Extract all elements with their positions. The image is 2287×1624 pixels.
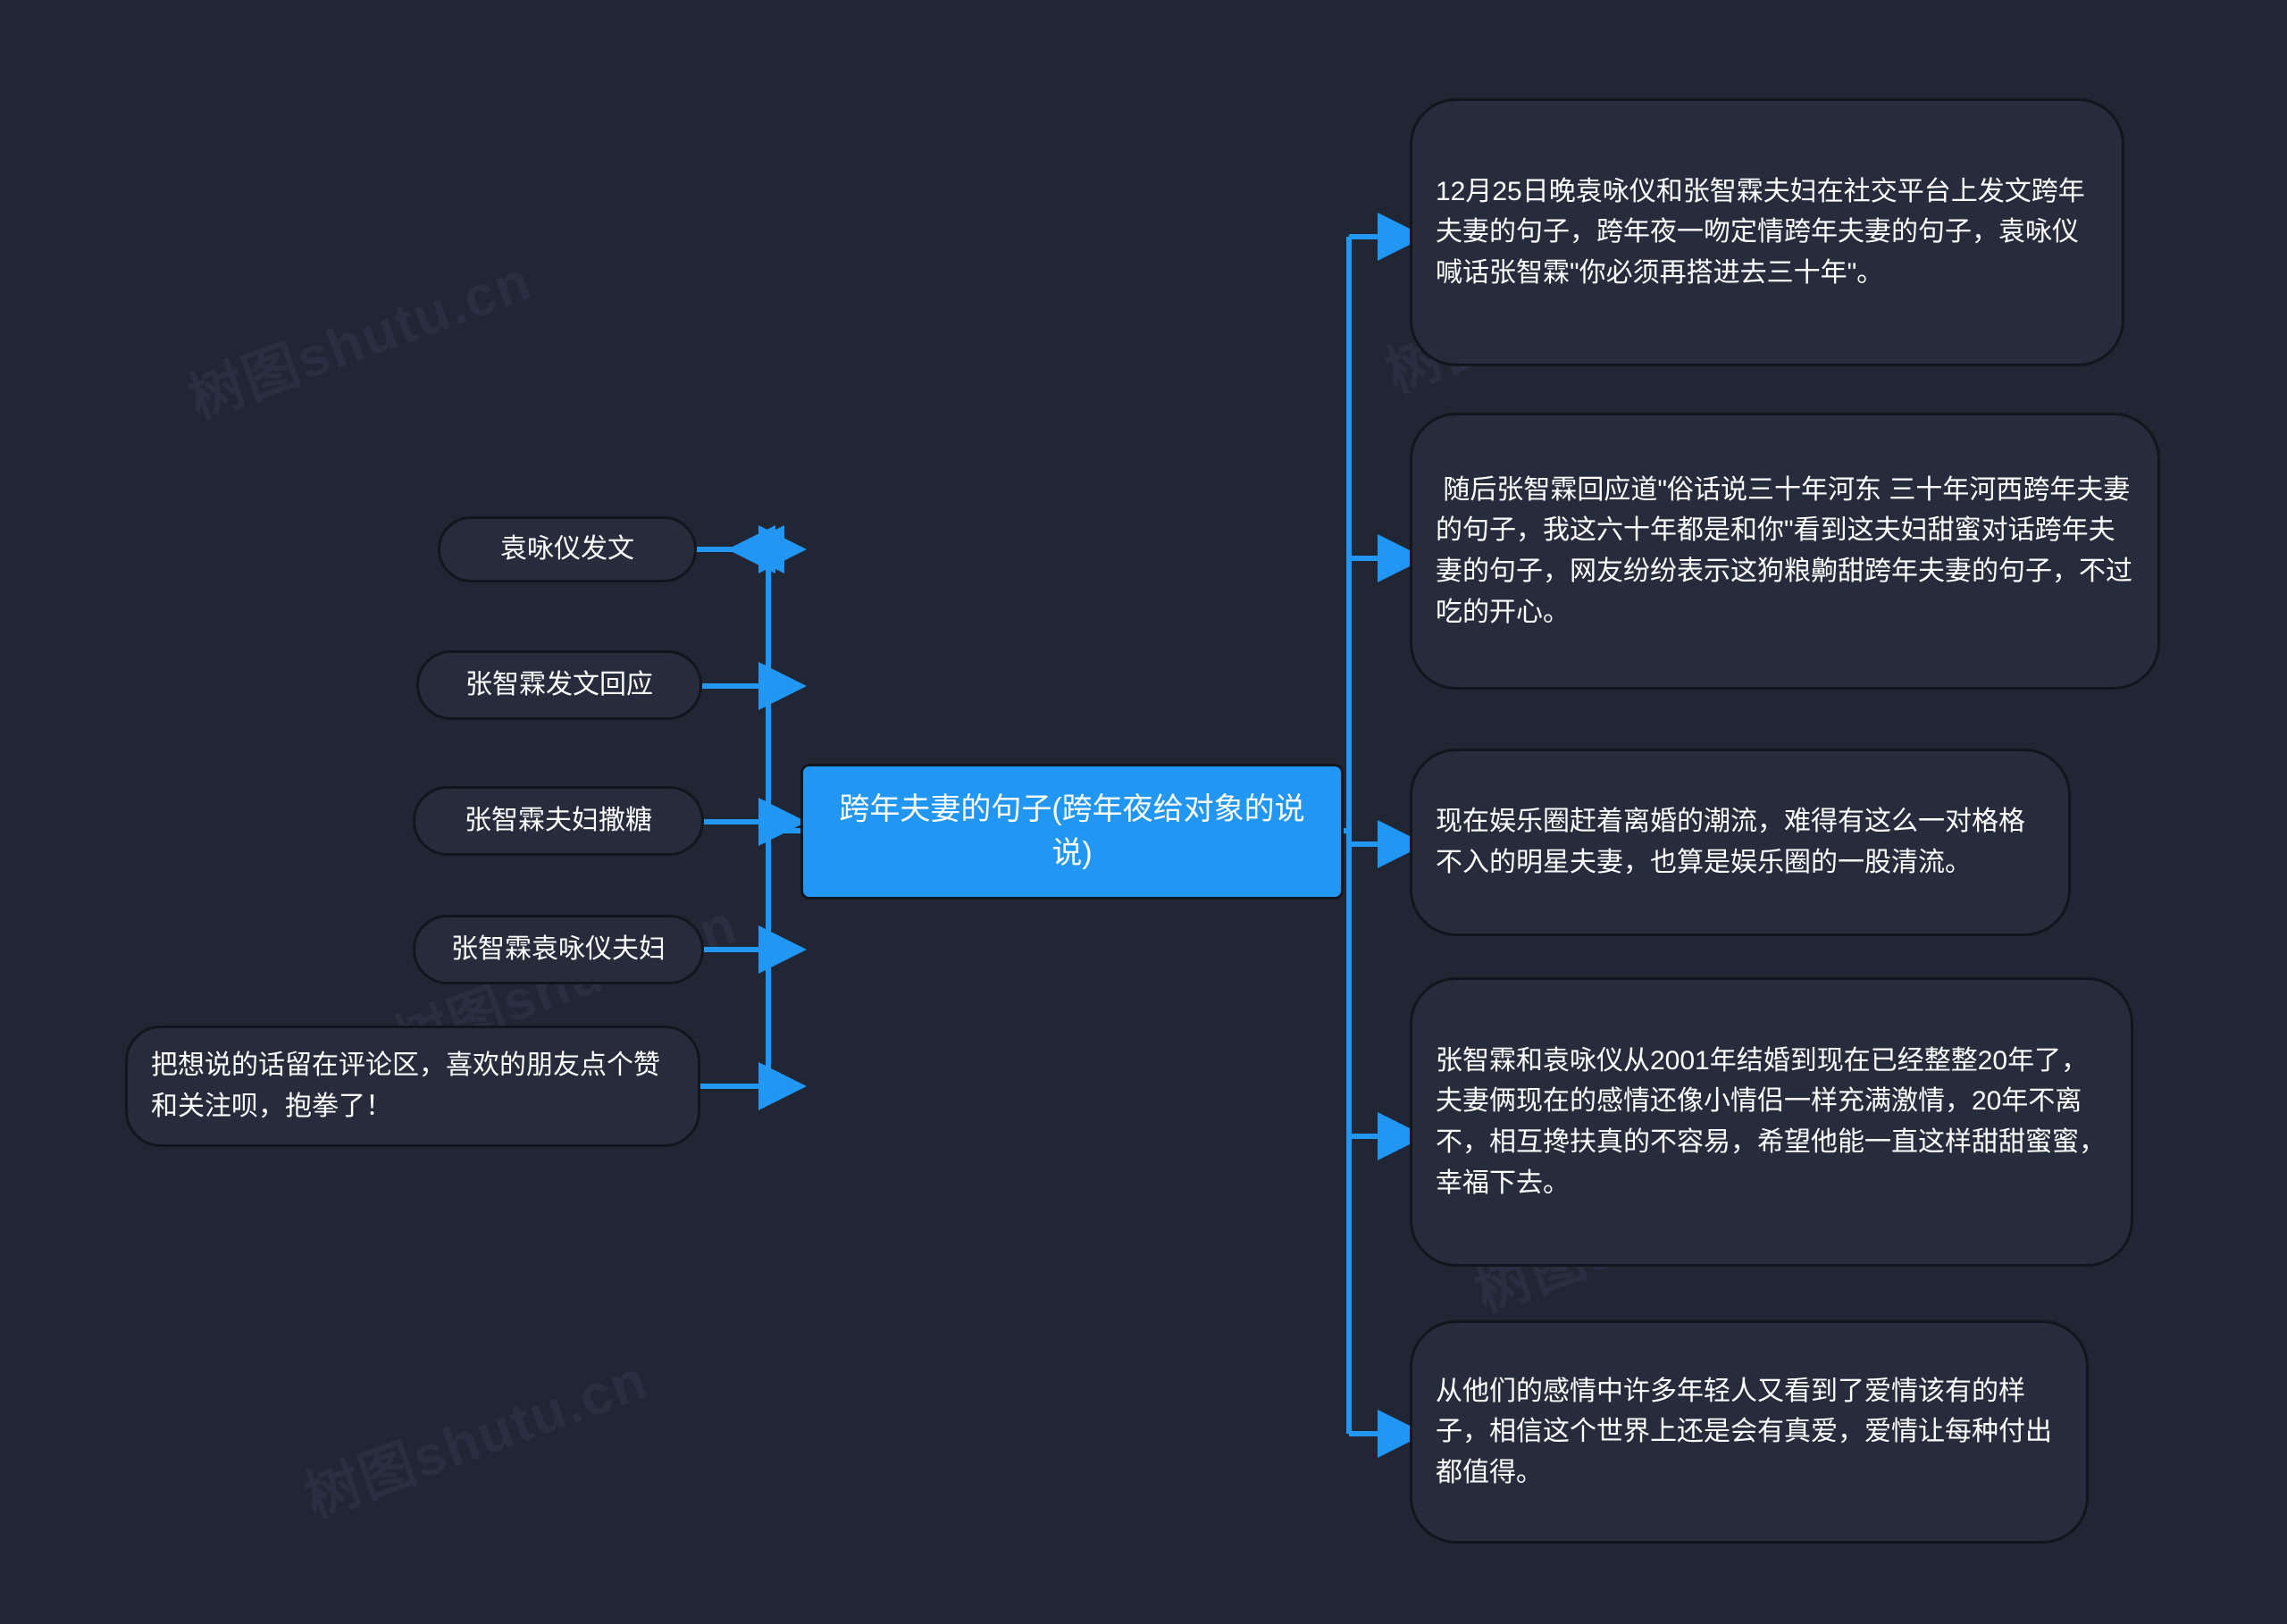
right-node-4-label: 张智霖和袁咏仪从2001年结婚到现在已经整整20年了，夫妻俩现在的感情还像小情侣… [1436, 1041, 2107, 1203]
right-node-5[interactable]: 从他们的感情中许多年轻人又看到了爱情该有的样子，相信这个世界上还是会有真爱，爱情… [1410, 1320, 2089, 1544]
right-node-3-label: 现在娱乐圈赶着离婚的潮流，难得有这么一对格格不入的明星夫妻，也算是娱乐圈的一股清… [1436, 801, 2045, 883]
left-node-4[interactable]: 张智霖袁咏仪夫妇 [413, 915, 704, 984]
right-node-2-label: 随后张智霖回应道"俗话说三十年河东 三十年河西跨年夫妻的句子，我这六十年都是和你… [1436, 470, 2134, 632]
left-node-2[interactable]: 张智霖发文回应 [416, 650, 702, 720]
left-node-4-label: 张智霖袁咏仪夫妇 [439, 929, 678, 970]
root-node[interactable]: 跨年夫妻的句子(跨年夜给对象的说说) [800, 764, 1344, 900]
root-node-label: 跨年夫妻的句子(跨年夜给对象的说说) [821, 788, 1323, 876]
right-node-4[interactable]: 张智霖和袁咏仪从2001年结婚到现在已经整整20年了，夫妻俩现在的感情还像小情侣… [1410, 977, 2133, 1267]
right-node-1-label: 12月25日晚袁咏仪和张智霖夫妇在社交平台上发文跨年夫妻的句子，跨年夜一吻定情跨… [1436, 172, 2099, 294]
left-node-3[interactable]: 张智霖夫妇撒糖 [413, 786, 704, 856]
left-node-2-label: 张智霖发文回应 [442, 665, 676, 706]
right-node-1[interactable]: 12月25日晚袁咏仪和张智霖夫妇在社交平台上发文跨年夫妻的句子，跨年夜一吻定情跨… [1410, 98, 2124, 366]
right-node-5-label: 从他们的感情中许多年轻人又看到了爱情该有的样子，相信这个世界上还是会有真爱，爱情… [1436, 1371, 2063, 1494]
watermark-text: 树图shutu.cn [292, 1335, 658, 1533]
left-node-1[interactable]: 袁咏仪发文 [438, 516, 697, 582]
left-node-5[interactable]: 把想说的话留在评论区，喜欢的朋友点个赞和关注呗，抱拳了！ [125, 1025, 700, 1147]
left-node-3-label: 张智霖夫妇撒糖 [439, 800, 678, 841]
left-node-1-label: 袁咏仪发文 [464, 529, 671, 570]
right-node-2[interactable]: 随后张智霖回应道"俗话说三十年河东 三十年河西跨年夫妻的句子，我这六十年都是和你… [1410, 413, 2160, 690]
left-node-5-label: 把想说的话留在评论区，喜欢的朋友点个赞和关注呗，抱拳了！ [151, 1045, 674, 1126]
mindmap-canvas: 树图shutu.cn 树图shutu.cn 树图shutu.cn 树图shutu… [0, 0, 2287, 1624]
right-node-3[interactable]: 现在娱乐圈赶着离婚的潮流，难得有这么一对格格不入的明星夫妻，也算是娱乐圈的一股清… [1410, 749, 2071, 936]
watermark-text: 树图shutu.cn [176, 236, 541, 434]
